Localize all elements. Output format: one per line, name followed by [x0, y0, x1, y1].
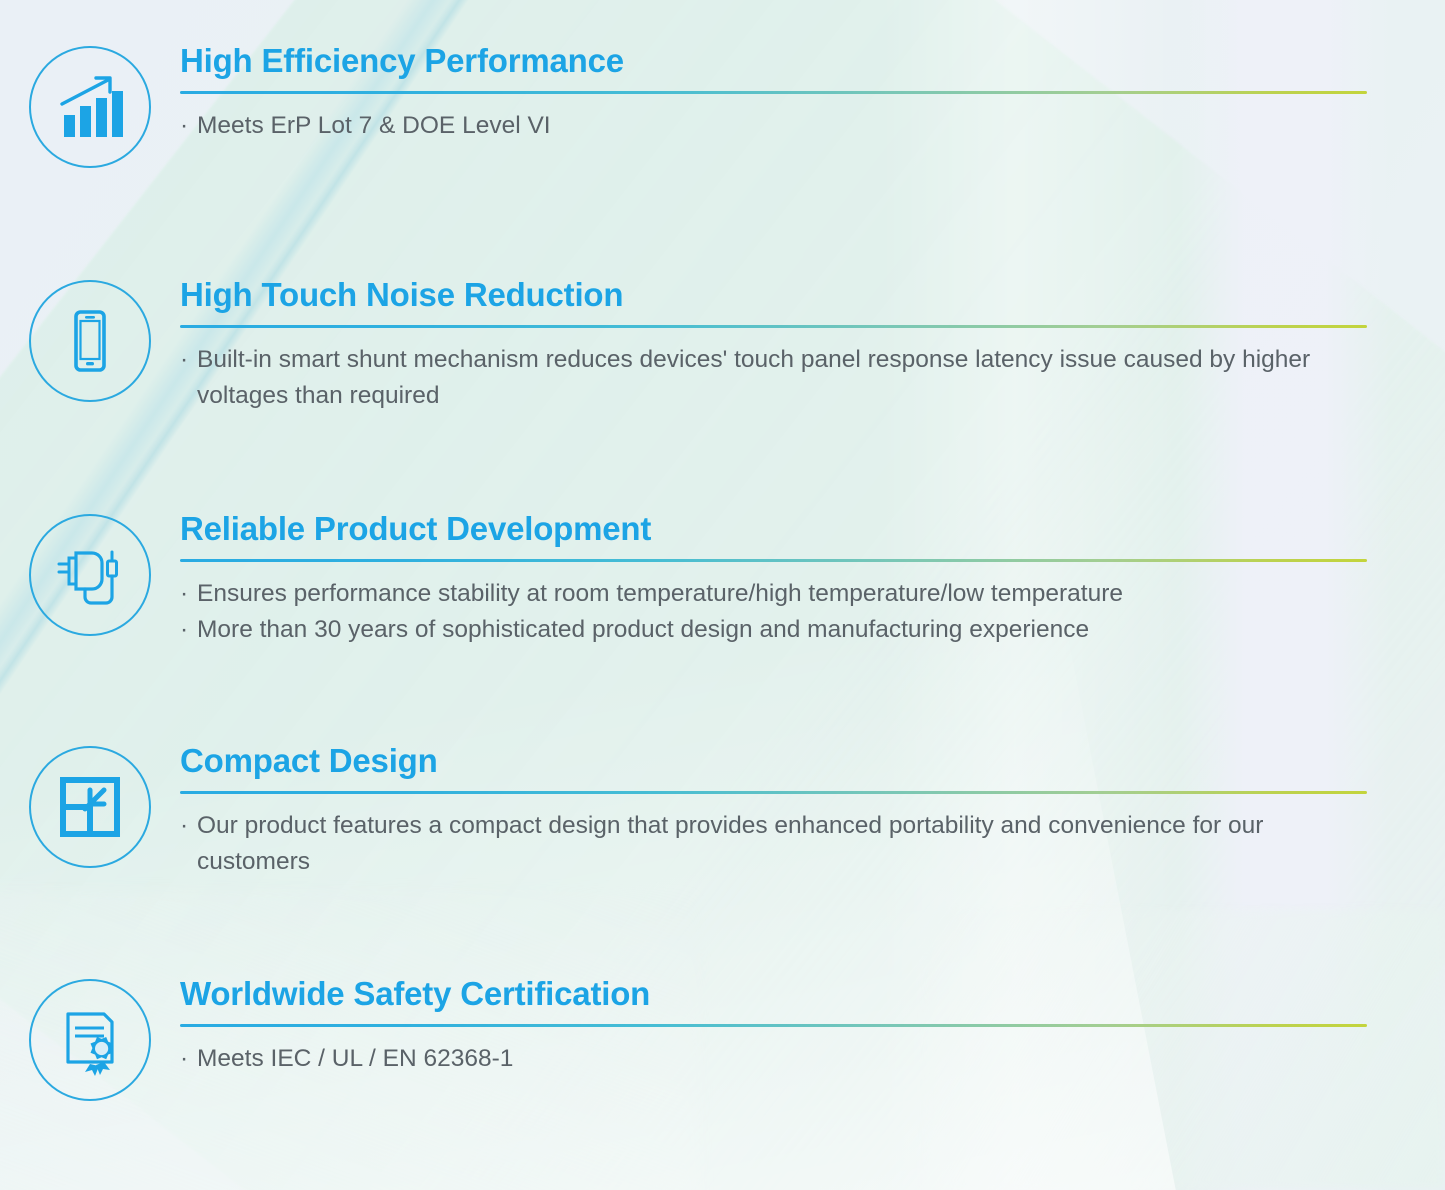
feature-icon-wrapper: [0, 276, 180, 402]
feature-divider: [180, 1024, 1367, 1027]
feature-item-compact-design: Compact Design · Our product features a …: [0, 742, 1445, 880]
feature-body: Compact Design · Our product features a …: [180, 742, 1445, 880]
feature-title: Compact Design: [180, 742, 1367, 780]
feature-item-high-efficiency-performance: High Efficiency Performance · Meets ErP …: [0, 42, 1445, 168]
feature-bullet: · Our product features a compact design …: [180, 808, 1367, 881]
feature-icon-wrapper: [0, 975, 180, 1101]
feature-title: High Touch Noise Reduction: [180, 276, 1367, 314]
bullet-text: More than 30 years of sophisticated prod…: [197, 612, 1367, 648]
compact-resize-icon: [29, 746, 151, 868]
feature-divider: [180, 559, 1367, 562]
bullet-text: Built-in smart shunt mechanism reduces d…: [197, 342, 1367, 415]
bullet-marker: ·: [180, 612, 197, 648]
feature-title: Worldwide Safety Certification: [180, 975, 1367, 1013]
feature-item-reliable-product-development: Reliable Product Development · Ensures p…: [0, 510, 1445, 648]
feature-title: Reliable Product Development: [180, 510, 1367, 548]
feature-title: High Efficiency Performance: [180, 42, 1367, 80]
feature-icon-wrapper: [0, 742, 180, 868]
power-adapter-icon: [29, 514, 151, 636]
bullet-marker: ·: [180, 108, 197, 144]
bullet-marker: ·: [180, 808, 197, 844]
certificate-seal-icon: [29, 979, 151, 1101]
feature-body: Reliable Product Development · Ensures p…: [180, 510, 1445, 648]
bullet-text: Meets IEC / UL / EN 62368-1: [197, 1041, 1367, 1077]
bullet-text: Meets ErP Lot 7 & DOE Level VI: [197, 108, 1367, 144]
feature-bullet: · Built-in smart shunt mechanism reduces…: [180, 342, 1367, 415]
feature-divider: [180, 791, 1367, 794]
feature-bullet: · Meets ErP Lot 7 & DOE Level VI: [180, 108, 1367, 144]
feature-body: Worldwide Safety Certification · Meets I…: [180, 975, 1445, 1077]
bullet-text: Our product features a compact design th…: [197, 808, 1367, 881]
feature-bullet: · Ensures performance stability at room …: [180, 576, 1367, 612]
bullet-marker: ·: [180, 576, 197, 612]
bullet-marker: ·: [180, 342, 197, 378]
feature-icon-wrapper: [0, 42, 180, 168]
feature-bullet: · More than 30 years of sophisticated pr…: [180, 612, 1367, 648]
feature-icon-wrapper: [0, 510, 180, 636]
bullet-marker: ·: [180, 1041, 197, 1077]
feature-list: High Efficiency Performance · Meets ErP …: [0, 0, 1445, 1190]
bar-chart-growth-icon: [29, 46, 151, 168]
feature-item-worldwide-safety-certification: Worldwide Safety Certification · Meets I…: [0, 975, 1445, 1101]
feature-divider: [180, 325, 1367, 328]
feature-body: High Touch Noise Reduction · Built-in sm…: [180, 276, 1445, 414]
feature-bullet: · Meets IEC / UL / EN 62368-1: [180, 1041, 1367, 1077]
feature-body: High Efficiency Performance · Meets ErP …: [180, 42, 1445, 144]
feature-divider: [180, 91, 1367, 94]
feature-item-high-touch-noise-reduction: High Touch Noise Reduction · Built-in sm…: [0, 276, 1445, 414]
bullet-text: Ensures performance stability at room te…: [197, 576, 1367, 612]
smartphone-icon: [29, 280, 151, 402]
